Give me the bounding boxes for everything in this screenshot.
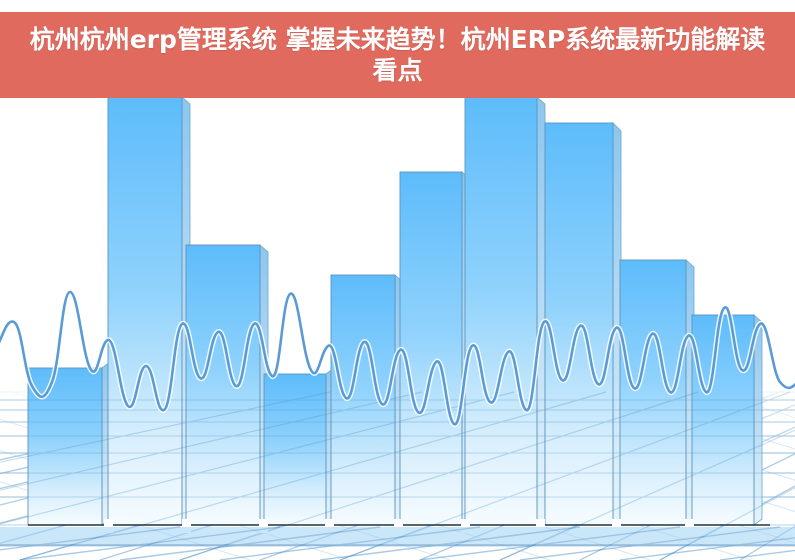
chart-screenshot: 杭州杭州erp管理系统 掌握未来趋势！杭州ERP系统最新功能解读看点 xyxy=(0,0,795,560)
bar-group xyxy=(28,97,762,525)
bar-7 xyxy=(465,97,545,525)
foreground-floor-band xyxy=(0,527,795,560)
bar-1 xyxy=(28,362,110,525)
bar-3 xyxy=(186,245,268,525)
bar-6 xyxy=(400,172,470,525)
bar-2 xyxy=(108,97,190,525)
bar-9 xyxy=(620,260,694,525)
page-title: 杭州杭州erp管理系统 掌握未来趋势！杭州ERP系统最新功能解读看点 xyxy=(18,24,778,86)
title-banner: 杭州杭州erp管理系统 掌握未来趋势！杭州ERP系统最新功能解读看点 xyxy=(0,12,795,98)
bar-4 xyxy=(264,368,334,525)
